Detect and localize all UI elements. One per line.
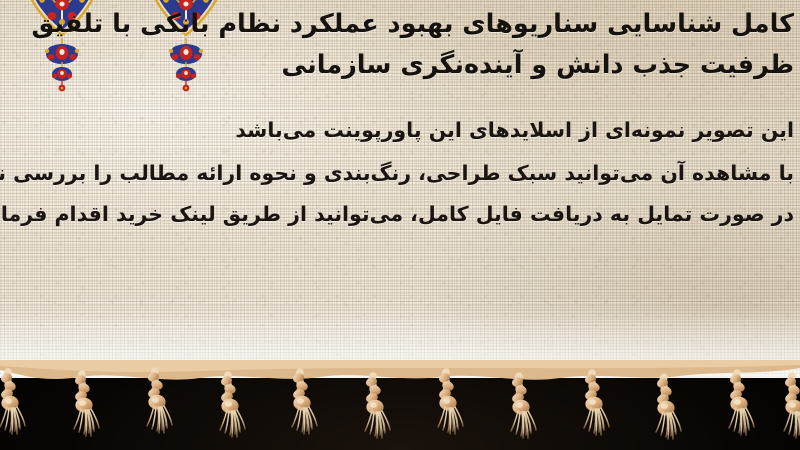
slide-body-line-1: این تصویر نمونه‌ای از اسلایدهای این پاور… — [14, 110, 794, 153]
slide-title-line-1: کامل شناسایی سناریوهای بهبود عملکرد نظام… — [94, 4, 794, 45]
slide-canvas: کامل شناسایی سناریوهای بهبود عملکرد نظام… — [0, 0, 800, 450]
slide-title: کامل شناسایی سناریوهای بهبود عملکرد نظام… — [94, 4, 794, 86]
slide-body-line-2: با مشاهده آن می‌توانید سبک طراحی، رنگ‌بن… — [14, 153, 794, 194]
canvas-bottom-highlight — [0, 308, 800, 378]
slide-title-line-2: ظرفیت جذب دانش و آینده‌نگری سازمانی — [94, 45, 794, 86]
slide-body-line-3: در صورت تمایل به دریافت فایل کامل، می‌تو… — [14, 194, 794, 235]
slide-body: این تصویر نمونه‌ای از اسلایدهای این پاور… — [14, 110, 794, 235]
